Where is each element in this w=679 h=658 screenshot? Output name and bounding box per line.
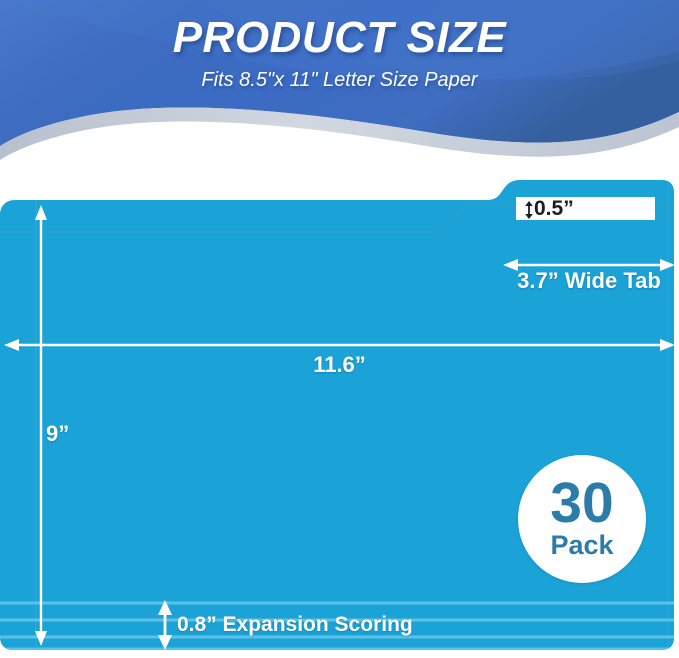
expansion-scoring-label: 0.8” Expansion Scoring bbox=[177, 612, 413, 637]
tab-height-label: 0.5” bbox=[534, 197, 574, 220]
tab-width-caption: Wide Tab bbox=[565, 268, 661, 293]
product-illustration bbox=[0, 160, 679, 658]
tab-width-value: 3.7” bbox=[517, 268, 559, 293]
overall-width-label: 11.6” bbox=[0, 352, 679, 378]
folder-diagram-graphic bbox=[0, 160, 679, 658]
tab-width-label-group: 3.7” Wide Tab bbox=[504, 268, 674, 294]
pack-count-unit: Pack bbox=[550, 532, 613, 559]
header-wave-graphic bbox=[0, 0, 679, 160]
pack-count-badge: 30 Pack bbox=[518, 455, 646, 583]
overall-height-label: 9” bbox=[46, 421, 69, 447]
header-banner: PRODUCT SIZE Fits 8.5"x 11" Letter Size … bbox=[0, 0, 679, 160]
pack-count-value: 30 bbox=[550, 476, 613, 531]
